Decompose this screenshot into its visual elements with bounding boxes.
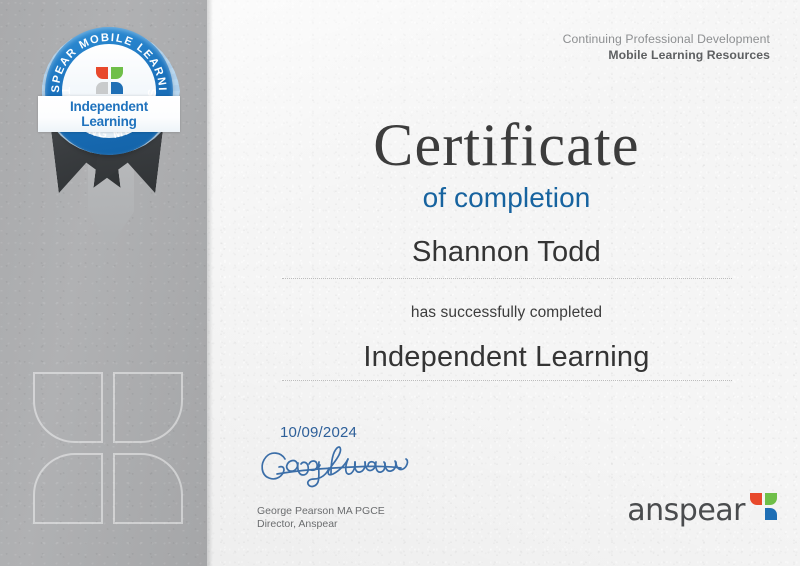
watermark-petal-bottom-right — [113, 453, 183, 524]
recipient-name: Shannon Todd — [213, 236, 800, 269]
signatory-role-line: Director, Anspear — [257, 518, 385, 531]
signature-image — [249, 440, 429, 492]
anspear-wordmark: anspear — [627, 493, 745, 528]
badge-course-band: Independent Learning — [38, 96, 180, 132]
badge-petal-blue — [111, 82, 123, 94]
watermark-petal-top-left — [33, 372, 103, 443]
issue-date: 10/09/2024 — [280, 424, 357, 441]
watermark-petal-top-right — [113, 372, 183, 443]
certificate-subtitle: of completion — [213, 182, 800, 214]
badge-petal-red — [96, 67, 108, 79]
badge-band-line1: Independent — [70, 99, 148, 114]
anspear-brand-logo: anspear — [627, 493, 778, 528]
brand-petal-green — [765, 493, 777, 505]
anspear-logo-icon — [750, 493, 778, 521]
unit-label: Mobile Learning Resources — [563, 47, 770, 63]
certificate-page: ANSPEAR MOBILE LEARNING TEACHING METHODS… — [0, 0, 800, 566]
watermark-petal-bottom-left — [33, 453, 103, 524]
achievement-badge: ANSPEAR MOBILE LEARNING TEACHING METHODS… — [38, 20, 180, 162]
course-underline — [282, 380, 732, 381]
brand-petal-white — [750, 508, 762, 520]
recipient-underline — [282, 278, 732, 279]
badge-petal-green — [111, 67, 123, 79]
badge-anspear-logo-icon — [96, 67, 123, 94]
brand-petal-red — [750, 493, 762, 505]
badge-band-line2: Learning — [81, 114, 136, 129]
certificate-content: Continuing Professional Development Mobi… — [213, 0, 800, 566]
certificate-title: Certificate — [213, 112, 800, 178]
signatory-name-line: George Pearson MA PGCE — [257, 505, 385, 518]
programme-label: Continuing Professional Development — [563, 31, 770, 47]
anspear-watermark-icon — [33, 372, 183, 524]
signatory-caption: George Pearson MA PGCE Director, Anspear — [257, 505, 385, 530]
badge-petal-grey — [96, 82, 108, 94]
brand-petal-blue — [765, 508, 777, 520]
completion-statement: has successfully completed — [213, 304, 800, 322]
header-block: Continuing Professional Development Mobi… — [563, 31, 770, 63]
course-name: Independent Learning — [213, 341, 800, 374]
